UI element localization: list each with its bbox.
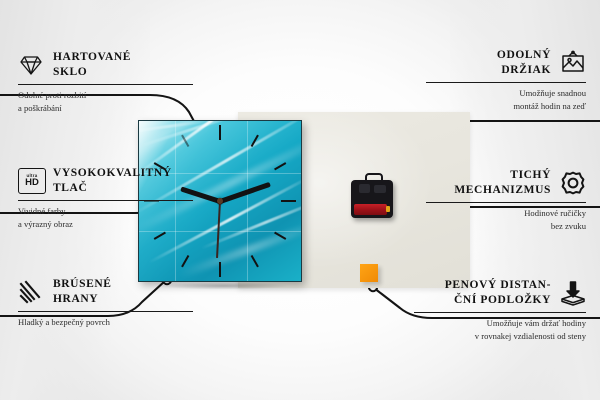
feature-rule — [414, 312, 586, 313]
feature-rule — [18, 84, 193, 85]
clock-center-pin — [217, 198, 223, 204]
feature-description: Umožňuje vám držať hodinyv rovnakej vzdi… — [414, 317, 586, 341]
feature-high-quality-print: ultra HD VYSOKOKVALITNÝTLAČ Vividné farb… — [18, 166, 193, 230]
feature-title: PENOVÝ DISTAN-ČNÍ PODLOŽKY — [445, 278, 551, 308]
feature-rule — [18, 311, 193, 312]
feature-description: Odolné proti rozbitía poškrábání — [18, 89, 193, 113]
feature-rule — [426, 82, 586, 83]
clock-tick-6 — [219, 262, 221, 277]
feature-hardened-glass: HARTOVANÉSKLO Odolné proti rozbitía pošk… — [18, 50, 193, 114]
feature-description: Hodinové ručičkybez zvuku — [426, 207, 586, 231]
feature-durable-hanger: ODOLNÝDRŽIAK Umožňuje snadnoumontáž hodi… — [426, 48, 586, 112]
feature-foam-spacers: PENOVÝ DISTAN-ČNÍ PODLOŽKY Umožňuje vám … — [414, 278, 586, 342]
mechanism-body — [351, 180, 393, 218]
feature-description: Umožňuje snadnoumontáž hodin na zeď — [426, 87, 586, 111]
feature-ground-edges: BRÚSENÉHRANY Hladký a bezpečný povrch — [18, 277, 193, 329]
mechanism-battery — [354, 204, 387, 215]
press-down-pad-icon — [560, 280, 586, 306]
feature-description: Vividné farbya výrazný obraz — [18, 205, 193, 229]
feature-rule — [18, 200, 193, 201]
diagonal-lines-icon — [18, 279, 44, 305]
feature-title: TICHÝMECHANIZMUS — [454, 168, 551, 198]
feature-title: HARTOVANÉSKLO — [53, 50, 131, 80]
feature-silent-mechanism: TICHÝMECHANIZMUS Hodinové ručičkybez zvu… — [426, 168, 586, 232]
gear-icon — [560, 170, 586, 196]
feature-title: ODOLNÝDRŽIAK — [497, 48, 551, 78]
diamond-icon — [18, 52, 44, 78]
feature-title: BRÚSENÉHRANY — [53, 277, 112, 307]
foam-spacer-pad — [360, 264, 378, 282]
ultra-hd-icon: ultra HD — [18, 168, 44, 194]
feature-description: Hladký a bezpečný povrch — [18, 316, 193, 328]
hd-label: HD — [25, 178, 39, 188]
picture-frame-icon — [560, 50, 586, 76]
clock-mechanism — [351, 180, 393, 218]
clock-tick-3 — [281, 200, 296, 202]
feature-rule — [426, 202, 586, 203]
feature-title: VYSOKOKVALITNÝTLAČ — [53, 166, 172, 196]
clock-tick-12 — [219, 125, 221, 140]
infographic-stage: HARTOVANÉSKLO Odolné proti rozbitía pošk… — [0, 0, 600, 400]
